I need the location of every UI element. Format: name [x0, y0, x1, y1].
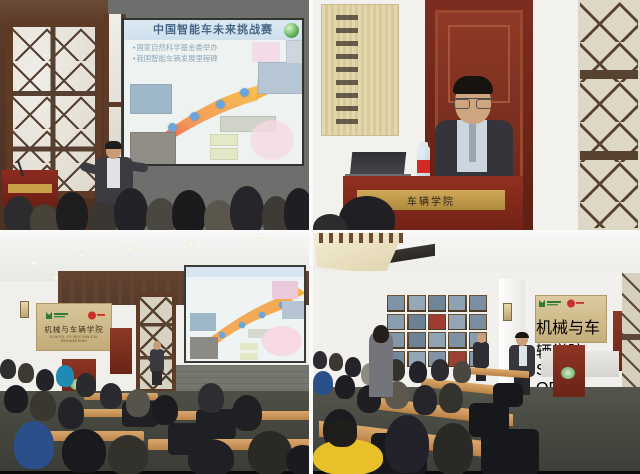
- school-sign-text-cn: 机械与车辆学院: [37, 324, 111, 335]
- speaker-shirt: [519, 346, 527, 366]
- attendee-head: [477, 333, 486, 343]
- slide-title: 中国智能车未来挑战赛: [124, 21, 302, 37]
- calligraphy-scroll: [321, 4, 399, 136]
- audience-head: [62, 429, 106, 473]
- timeline-dot-3: [216, 100, 225, 109]
- school-wall-sign: 机械与车辆学院 SCHOOL OF MECHANICAL ENGINEERING: [535, 295, 607, 343]
- framed-photo: [407, 332, 425, 349]
- school-sign-text-en: SCHOOL OF MECHANICAL ENGINEERING: [37, 335, 111, 343]
- photo-bottom-left: 机械与车辆学院 SCHOOL OF MECHANICAL ENGINEERING: [0, 233, 309, 474]
- lattice-screen-right: [578, 0, 640, 230]
- university-logo-icon: [43, 310, 69, 321]
- chandelier-trim: [319, 233, 405, 243]
- audience-head: [433, 423, 473, 474]
- framed-photo: [469, 314, 487, 331]
- speaker-torso: [150, 349, 164, 373]
- projection-screen: 中国智能车未来挑战赛 国家自然科学基金委举办 我国智能车辆发展里程碑: [122, 18, 304, 166]
- slide-bullet-2: 我国智能车辆发展里程碑: [132, 53, 218, 64]
- audience-head: [431, 359, 449, 381]
- audience-head: [284, 188, 309, 230]
- audience-head: [385, 415, 429, 473]
- speaker-figure: [148, 341, 166, 385]
- sign-logos: [43, 309, 105, 321]
- slide-diagram-3: [210, 148, 238, 160]
- slide-bullet-1: 国家自然科学基金委举办: [132, 42, 218, 53]
- audience-head: [30, 204, 58, 230]
- audience-head: [232, 395, 262, 431]
- photo-top-right: 车辆学院 Speaker at the lectern with microph…: [313, 0, 640, 230]
- ceiling-light: [30, 261, 39, 266]
- audience-head: [4, 385, 28, 413]
- ceiling-light: [126, 247, 135, 252]
- audience-head: [172, 190, 206, 230]
- side-door: [110, 328, 132, 374]
- audience-head: [413, 385, 437, 415]
- podium-plate: [8, 184, 52, 193]
- audience-head: [313, 371, 333, 395]
- audience-head: [453, 361, 471, 383]
- audience-head: [114, 188, 148, 230]
- audience-head: [188, 439, 234, 474]
- ceiling-light: [186, 241, 195, 246]
- audience-head: [100, 383, 122, 409]
- school-wall-sign: 机械与车辆学院 SCHOOL OF MECHANICAL ENGINEERING: [36, 303, 112, 351]
- lectern: [553, 345, 585, 397]
- timeline-dot-4: [240, 88, 249, 97]
- slide-bullets: 国家自然科学基金委举办 我国智能车辆发展里程碑: [132, 42, 218, 64]
- framed-photo: [448, 295, 466, 312]
- ceiling-light: [254, 237, 263, 242]
- slide-pink-circle: [250, 120, 294, 160]
- audience-head: [36, 369, 54, 391]
- speaker-hair: [453, 76, 493, 94]
- wall-sconce: [20, 301, 29, 318]
- slide-pink-box: [252, 42, 280, 62]
- photo-top-left: 中国智能车未来挑战赛 国家自然科学基金委举办 我国智能车辆发展里程碑: [0, 0, 309, 230]
- timeline-dot-2: [190, 112, 199, 121]
- audience-head: [329, 353, 343, 371]
- university-logo-icon: [536, 298, 562, 309]
- framed-photo: [469, 295, 487, 312]
- framed-photo: [387, 314, 405, 331]
- audience-head: [345, 357, 361, 377]
- partner-logo-icon: [87, 310, 105, 321]
- framed-photo: [448, 332, 466, 349]
- speaker-legs: [152, 371, 162, 385]
- audience-head: [56, 192, 88, 230]
- framed-photo: [448, 314, 466, 331]
- audience-head: [327, 419, 357, 447]
- panel-top-right[interactable]: 车辆学院 Speaker at the lectern with microph…: [313, 0, 640, 233]
- bottle-cap: [419, 142, 428, 148]
- audience-head: [439, 383, 463, 413]
- audience-head: [0, 359, 16, 379]
- audience-head: [108, 435, 148, 474]
- audience-head: [56, 365, 74, 387]
- audience-head: [335, 375, 355, 399]
- eyeglasses-icon: [454, 98, 492, 107]
- speaker-collar: [469, 122, 476, 162]
- slide-diagram-2: [210, 134, 238, 146]
- speaker-hair: [105, 141, 122, 149]
- audience-head: [230, 186, 264, 230]
- lattice-pattern: [580, 2, 638, 228]
- audience-head: [313, 351, 327, 369]
- photo-gallery-wall: [387, 295, 487, 367]
- audience-head: [373, 325, 389, 343]
- slide-logo-icon: [284, 23, 299, 38]
- audience-head: [248, 431, 292, 474]
- slide-photo-3: [258, 62, 304, 94]
- slide-thumbnail: [186, 267, 306, 363]
- ceiling-light: [78, 253, 87, 258]
- audience-head: [409, 361, 427, 383]
- lattice-screen: [622, 273, 640, 395]
- speaker-hair: [515, 332, 529, 338]
- panel-top-left[interactable]: 中国智能车未来挑战赛 国家自然科学基金委举办 我国智能车辆发展里程碑: [0, 0, 313, 233]
- audience-head: [14, 421, 54, 469]
- framed-photo: [428, 332, 446, 349]
- speaker-shirt: [107, 158, 120, 188]
- audience-head: [152, 395, 178, 425]
- wall-sconce: [503, 303, 512, 321]
- photo-bottom-right: 机械与车辆学院 SCHOOL OF MECHANICAL ENGINEERING: [313, 233, 640, 474]
- partner-logo-icon: [566, 298, 584, 309]
- lattice-pattern: [622, 273, 640, 395]
- audience-head: [198, 383, 224, 413]
- calligraphy-characters: [336, 15, 358, 127]
- slide-photo-4: [286, 40, 304, 64]
- framed-photo: [387, 295, 405, 312]
- attendee-torso: [473, 342, 489, 368]
- laptop: [350, 152, 407, 176]
- sign-logos: [536, 296, 606, 314]
- speaker-head: [153, 341, 161, 350]
- chair: [481, 429, 539, 474]
- audience-head: [18, 363, 34, 383]
- audience-head: [58, 397, 84, 429]
- audience-head: [76, 373, 96, 397]
- projection-screen: [184, 265, 306, 363]
- slide-photo-1: [130, 84, 172, 114]
- framed-photo: [428, 295, 446, 312]
- audience-head: [126, 389, 150, 417]
- timeline-dot-1: [168, 123, 177, 132]
- photo-collage: 中国智能车未来挑战赛 国家自然科学基金委举办 我国智能车辆发展里程碑: [0, 0, 640, 474]
- framed-photo: [428, 314, 446, 331]
- audience-head: [286, 445, 309, 474]
- lectern-plaque-text: 车辆学院: [407, 193, 455, 208]
- audience-head: [30, 391, 56, 421]
- panel-bottom-left[interactable]: 机械与车辆学院 SCHOOL OF MECHANICAL ENGINEERING: [0, 233, 313, 474]
- panel-bottom-right[interactable]: 机械与车辆学院 SCHOOL OF MECHANICAL ENGINEERING: [313, 233, 640, 474]
- framed-photo: [407, 314, 425, 331]
- framed-photo: [407, 295, 425, 312]
